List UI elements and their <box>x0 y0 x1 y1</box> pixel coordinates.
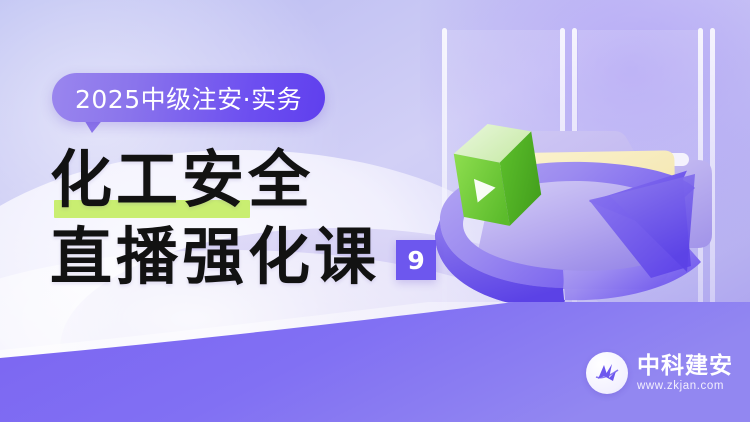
course-badge: 2025中级注安·实务 <box>52 73 325 122</box>
brand-url: www.zkjan.com <box>637 380 733 392</box>
course-badge-label: 2025中级注安·实务 <box>75 80 302 116</box>
brand-text-block: 中科建安 www.zkjan.com <box>637 354 733 392</box>
brand-mark-icon <box>586 352 628 394</box>
brand-logo: 中科建安 www.zkjan.com <box>586 352 733 394</box>
headline-block: 化工安全 直播强化课 9 <box>50 148 436 288</box>
episode-number-badge: 9 <box>396 240 436 280</box>
headline-line-1-wrap: 化工安全 <box>50 148 436 211</box>
course-poster: 2025中级注安·实务 化工安全 直播强化课 9 中科建安 www.zkjan.… <box>0 0 750 422</box>
hero-illustration <box>395 10 750 350</box>
headline-line-2: 直播强化课 <box>50 225 380 288</box>
headline-line-2-wrap: 直播强化课 9 <box>50 225 436 288</box>
brand-name: 中科建安 <box>637 354 733 378</box>
headline-line-1: 化工安全 <box>50 143 314 216</box>
